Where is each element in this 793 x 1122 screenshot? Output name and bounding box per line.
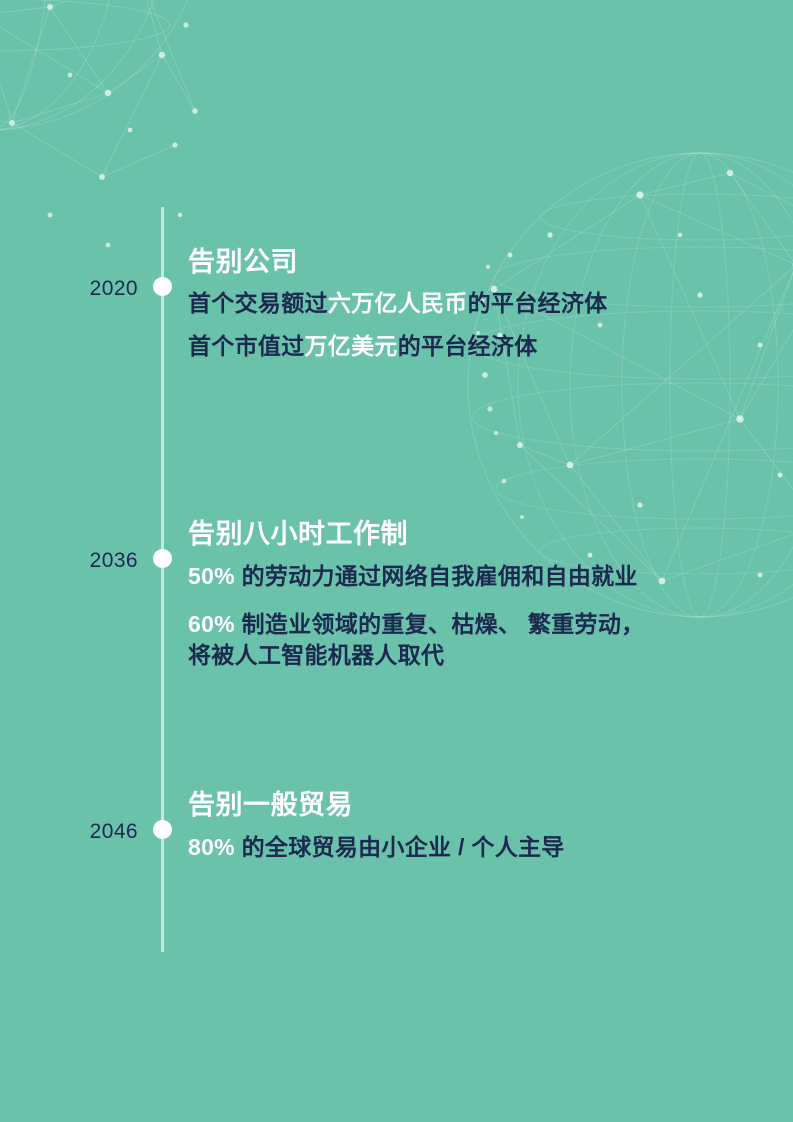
line-segment-text: 的平台经济体 [398, 333, 538, 359]
timeline-entry-line: 首个交易额过六万亿人民币的平台经济体 [188, 288, 778, 318]
timeline-year-label: 2036 [0, 550, 138, 571]
timeline-entry-body: 告别八小时工作制 50% 的劳动力通过网络自我雇佣和自由就业 60% 制造业领域… [188, 519, 778, 670]
timeline-entry-line: 首个市值过万亿美元的平台经济体 [188, 331, 778, 361]
timeline-year-label: 2020 [0, 278, 138, 299]
timeline-year-label: 2046 [0, 821, 138, 842]
line-segment-text: 将被人工智能机器人取代 [188, 642, 444, 668]
line-segment-text: 首个市值过 [188, 333, 305, 359]
line-segment-text: 的劳动力通过网络自我雇佣和自由就业 [235, 563, 638, 589]
timeline-entry-line: 80% 的全球贸易由小企业 / 个人主导 [188, 832, 778, 862]
timeline-entry-heading: 告别一般贸易 [188, 790, 778, 822]
timeline-entry-line: 50% 的劳动力通过网络自我雇佣和自由就业 [188, 561, 778, 591]
line-segment-text: 的平台经济体 [468, 290, 608, 316]
timeline: 2020 告别公司 首个交易额过六万亿人民币的平台经济体 首个市值过万亿美元的平… [0, 0, 793, 1122]
line-segment-highlight: 六万亿人民币 [328, 290, 468, 316]
line-segment-highlight: 50% [188, 563, 235, 589]
timeline-dot [153, 549, 172, 568]
timeline-entry-body: 告别公司 首个交易额过六万亿人民币的平台经济体 首个市值过万亿美元的平台经济体 [188, 247, 778, 362]
timeline-entry-line: 60% 制造业领域的重复、枯燥、 繁重劳动， 将被人工智能机器人取代 [188, 609, 778, 670]
line-segment-highlight: 60% [188, 611, 235, 637]
timeline-dot [153, 277, 172, 296]
timeline-entry-heading: 告别八小时工作制 [188, 519, 778, 551]
timeline-dot [153, 820, 172, 839]
line-segment-text: 制造业领域的重复、枯燥、 繁重劳动， [235, 611, 644, 637]
line-segment-highlight: 万亿美元 [305, 333, 398, 359]
line-segment-text: 的全球贸易由小企业 / 个人主导 [235, 834, 565, 860]
line-segment-highlight: 80% [188, 834, 235, 860]
timeline-entry-heading: 告别公司 [188, 247, 778, 279]
line-segment-text: 首个交易额过 [188, 290, 328, 316]
timeline-entry-body: 告别一般贸易 80% 的全球贸易由小企业 / 个人主导 [188, 790, 778, 862]
